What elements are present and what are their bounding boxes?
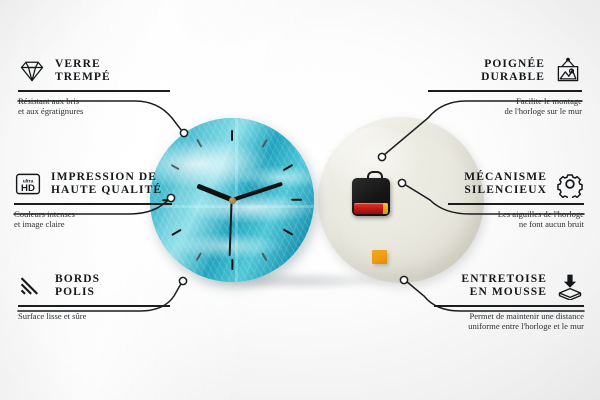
feature-rule — [14, 203, 172, 205]
infographic-canvas: VERRE TREMPÉ Résistant aux bris et aux é… — [0, 0, 600, 400]
feature-header: MÉCANISME SILENCIEUX — [448, 170, 584, 198]
feature-poignee-durable[interactable]: POIGNÉE DURABLE Facilite le montage de l… — [428, 57, 582, 117]
feature-verre-trempe[interactable]: VERRE TREMPÉ Résistant aux bris et aux é… — [18, 57, 170, 117]
hanging-frame-icon — [554, 57, 582, 85]
feature-description: Les aiguilles de l'horloge ne font aucun… — [448, 209, 584, 230]
feature-mecanisme-silencieux[interactable]: MÉCANISME SILENCIEUX Les aiguilles de l'… — [448, 170, 584, 230]
feature-impression-haute-qualite[interactable]: ultra HD IMPRESSION DE HAUTE QUALITÉ Cou… — [14, 170, 172, 230]
feature-title: POIGNÉE DURABLE — [481, 58, 545, 85]
feature-rule — [428, 90, 582, 92]
feature-description: Surface lisse et sûre — [18, 311, 170, 322]
feature-description: Permet de maintenir une distance uniform… — [434, 311, 584, 332]
connector-dot-mecanisme — [398, 179, 405, 186]
feature-title: BORDS POLIS — [55, 273, 100, 300]
diamond-icon — [18, 57, 46, 85]
feature-title: IMPRESSION DE HAUTE QUALITÉ — [51, 171, 162, 198]
feature-rule — [18, 90, 170, 92]
ultra-hd-icon: ultra HD — [14, 170, 42, 198]
feature-description: Facilite le montage de l'horloge sur le … — [428, 96, 582, 117]
feature-rule — [448, 203, 584, 205]
connector-dot-bords — [179, 277, 186, 284]
polished-edges-icon — [18, 272, 46, 300]
feature-rule — [434, 305, 584, 307]
feature-header: ENTRETOISE EN MOUSSE — [434, 272, 584, 300]
feature-description: Couleurs intenses et image claire — [14, 209, 172, 230]
foam-spacer-icon — [556, 272, 584, 300]
feature-description: Résistant aux bris et aux égratignures — [18, 96, 170, 117]
feature-title: MÉCANISME SILENCIEUX — [464, 171, 547, 198]
feature-title: VERRE TREMPÉ — [55, 58, 111, 85]
connector-dot-verre — [180, 129, 187, 136]
feature-rule — [18, 305, 170, 307]
ultra-hd-big-label: HD — [21, 183, 35, 194]
feature-entretoise-en-mousse[interactable]: ENTRETOISE EN MOUSSE Permet de maintenir… — [434, 272, 584, 332]
connector-dot-entretoise — [400, 276, 407, 283]
feature-header: ultra HD IMPRESSION DE HAUTE QUALITÉ — [14, 170, 172, 198]
feature-header: VERRE TREMPÉ — [18, 57, 170, 85]
feature-title: ENTRETOISE EN MOUSSE — [461, 273, 547, 300]
connector-dot-poignee — [378, 153, 385, 160]
feature-header: POIGNÉE DURABLE — [428, 57, 582, 85]
gear-icon — [556, 170, 584, 198]
feature-header: BORDS POLIS — [18, 272, 170, 300]
feature-bords-polis[interactable]: BORDS POLIS Surface lisse et sûre — [18, 272, 170, 321]
